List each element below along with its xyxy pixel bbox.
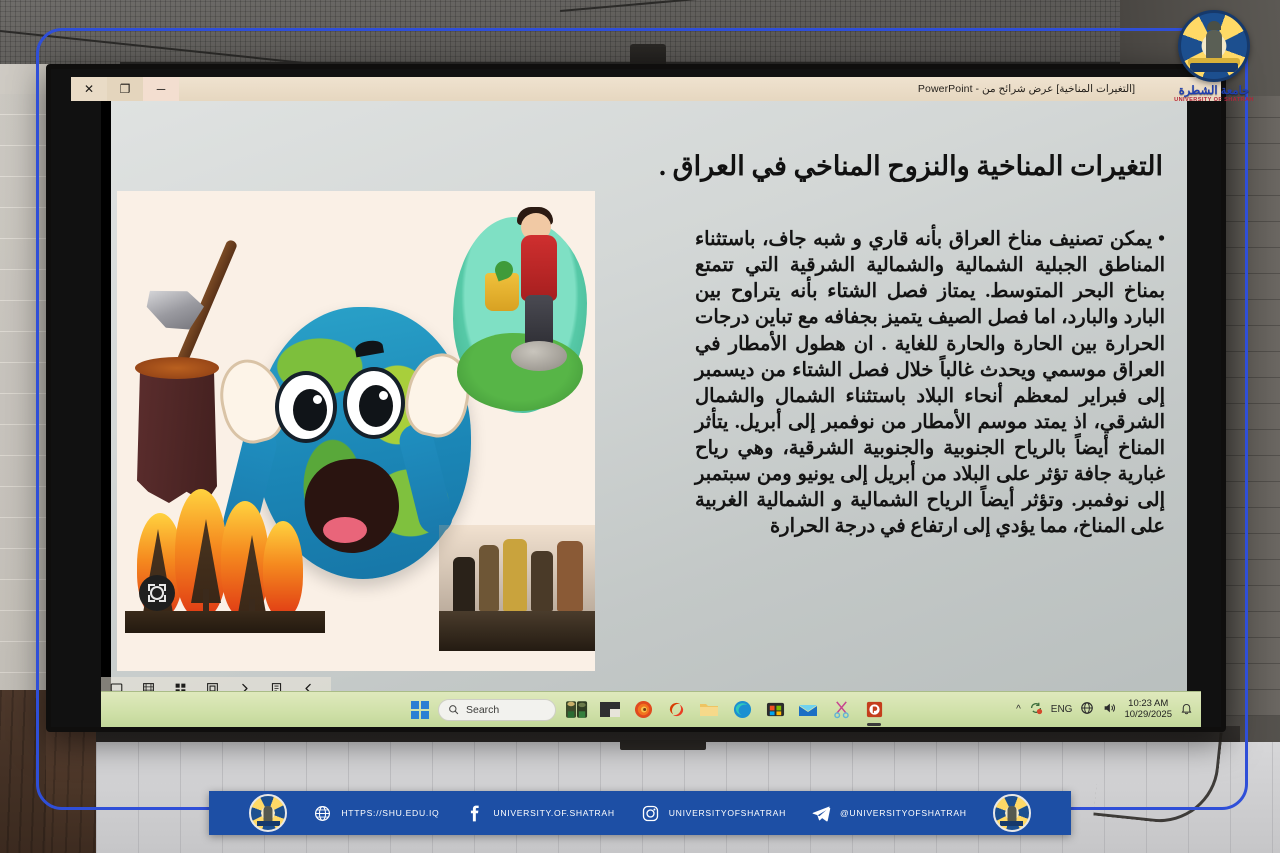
slide-stage: التغيرات المناخية والنزوح المناخي في الع… (101, 101, 1187, 705)
volume-icon[interactable] (1102, 701, 1116, 718)
search-input[interactable]: Search (438, 699, 556, 721)
restore-icon[interactable]: ❐ (107, 77, 143, 101)
tv-screen: ✕ ❐ ─ [التغيرات المناخية] عرض شرائح من -… (51, 69, 1221, 727)
seal-figure (1007, 806, 1016, 822)
windows-taskbar: Search (101, 691, 1201, 727)
taskbar-icon-snipping-tool[interactable] (829, 698, 853, 722)
taskbar-clock[interactable]: 10:23 AM 10/29/2025 (1124, 699, 1172, 721)
tree-stump-rings (135, 357, 219, 379)
banner-item-telegram[interactable]: @UNIVERSITYOFSHATRAH (812, 804, 967, 823)
earth-tongue (323, 517, 367, 543)
taskbar-icon-firefox[interactable] (631, 698, 655, 722)
slide-body-text: •يمكن تصنيف مناخ العراق بأنه قاري و شبه … (695, 227, 1165, 541)
facebook-icon (465, 804, 484, 823)
system-tray: ^ ENG 10:23 AM 10/29/2025 (1016, 699, 1201, 721)
seal-figure (1206, 30, 1222, 60)
windows-start-icon[interactable] (411, 701, 429, 719)
earth-pupil-right (359, 385, 393, 427)
social-media-banner: HTTPS://SHU.EDU.IQ UNIVERSITY.OF.SHATRAH… (209, 791, 1071, 835)
university-name-english: UNIVERSITY OF SHATRAH (1170, 97, 1258, 103)
person-silhouette (531, 551, 553, 611)
slide-illustration (117, 191, 595, 671)
taskbar-center-group: Search (411, 698, 886, 722)
lens-corner (148, 595, 155, 602)
clock-time: 10:23 AM (1124, 699, 1172, 710)
network-icon[interactable] (1080, 701, 1094, 718)
telegram-icon (812, 804, 831, 823)
close-icon[interactable]: ✕ (71, 77, 107, 101)
tray-overflow-chevron-icon[interactable]: ^ (1016, 704, 1021, 715)
taskbar-icon-microsoft-office[interactable] (664, 698, 688, 722)
displacement-ground (439, 611, 595, 651)
banner-item-facebook[interactable]: UNIVERSITY.OF.SHATRAH (465, 804, 614, 823)
globe-icon (313, 804, 332, 823)
search-icon (448, 704, 459, 715)
banner-seal-left-icon (249, 794, 287, 832)
tv-stand-foot (620, 740, 706, 750)
earth-eye-highlight (379, 391, 388, 400)
rock (511, 341, 567, 371)
person-silhouette (479, 545, 499, 611)
taskbar-icon-microsoft-store[interactable] (763, 698, 787, 722)
lens-corner (159, 595, 166, 602)
tree-stump-icon (137, 363, 217, 503)
slide-paragraph: يمكن تصنيف مناخ العراق بأنه قاري و شبه ج… (695, 229, 1165, 537)
banner-item-website[interactable]: HTTPS://SHU.EDU.IQ (313, 804, 439, 823)
seal-base (1000, 821, 1023, 826)
minimize-icon[interactable]: ─ (143, 77, 179, 101)
taskbar-icon-file-explorer[interactable] (697, 698, 721, 722)
taskbar-icon-powerpoint[interactable] (862, 698, 886, 722)
person-silhouette (503, 539, 527, 611)
person-silhouette (557, 541, 583, 611)
seal-base (1190, 63, 1238, 72)
wall-mounted-tv: ✕ ❐ ─ [التغيرات المناخية] عرض شرائح من -… (46, 64, 1226, 732)
flame-icon (263, 521, 303, 617)
lens-corner (148, 584, 155, 591)
banner-seal-right-icon (993, 794, 1031, 832)
taskbar-icon-mail[interactable] (796, 698, 820, 722)
search-placeholder: Search (466, 704, 499, 716)
fire-ground (125, 611, 325, 633)
powerpoint-slide[interactable]: التغيرات المناخية والنزوح المناخي في الع… (111, 101, 1187, 705)
slide-title: التغيرات المناخية والنزوح المناخي في الع… (163, 151, 1163, 182)
instagram-handle: UNIVERSITYOFSHATRAH (669, 808, 786, 818)
instagram-icon (641, 804, 660, 823)
bullet-marker: • (1158, 227, 1165, 253)
google-lens-icon[interactable] (139, 575, 175, 611)
person-silhouette (453, 557, 475, 615)
taskbar-icon-microsoft-edge[interactable] (730, 698, 754, 722)
wood-wall-panel (0, 690, 46, 853)
powerpoint-titlebar: ✕ ❐ ─ [التغيرات المناخية] عرض شرائح من -… (71, 77, 1221, 101)
tray-language-indicator[interactable]: ENG (1051, 704, 1073, 715)
tray-sync-icon[interactable] (1029, 701, 1043, 718)
website-url: HTTPS://SHU.EDU.IQ (341, 808, 439, 818)
notification-bell-icon[interactable] (1180, 702, 1193, 718)
banner-item-instagram[interactable]: UNIVERSITYOFSHATRAH (641, 804, 786, 823)
facebook-handle: UNIVERSITY.OF.SHATRAH (493, 808, 614, 818)
planter-body (521, 235, 557, 301)
taskbar-icon-widgets-weather[interactable] (565, 698, 589, 722)
clock-date: 10/29/2025 (1124, 710, 1172, 721)
taskbar-icon-file-explorer-pinned[interactable] (598, 698, 622, 722)
planter-legs (525, 295, 553, 347)
lens-corner (159, 584, 166, 591)
telegram-handle: @UNIVERSITYOFSHATRAH (840, 808, 967, 818)
seal-figure (264, 806, 273, 822)
earth-eye-highlight (313, 395, 322, 404)
university-watermark: جامعة الشطرة UNIVERSITY OF SHATRAH (1170, 10, 1258, 103)
seal-base (257, 821, 280, 826)
university-name-arabic: جامعة الشطرة (1170, 83, 1258, 97)
earth-pupil-left (293, 389, 327, 431)
university-seal-icon (1178, 10, 1250, 82)
